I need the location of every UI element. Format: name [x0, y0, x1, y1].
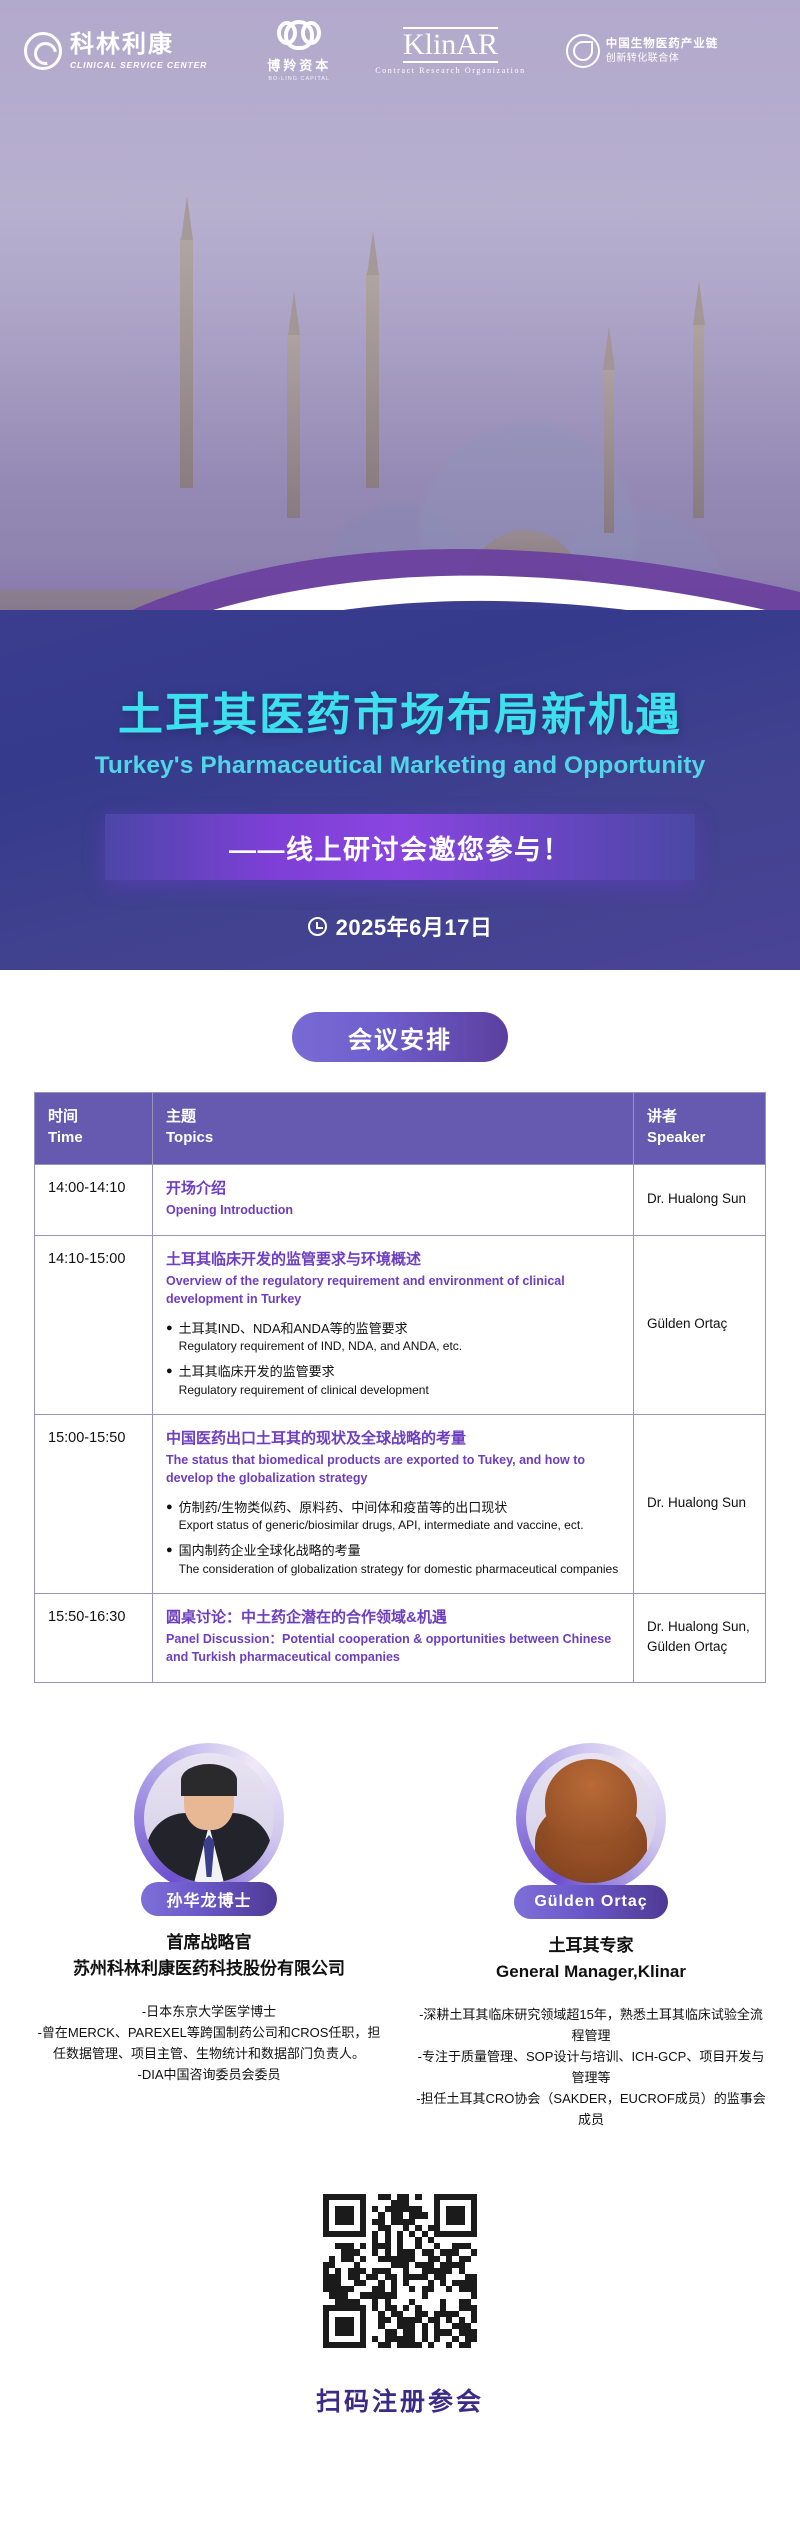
speakers-section: 孙华龙博士 首席战略官 苏州科林利康医药科技股份有限公司 -日本东京大学医学博士…	[0, 1683, 800, 2130]
swirl-icon	[24, 32, 62, 70]
table-row: 15:50-16:30圆桌讨论：中土药企潜在的合作领域&机遇Panel Disc…	[35, 1593, 766, 1682]
cell-speaker: Dr. Hualong Sun	[634, 1414, 766, 1593]
schedule-badge-text: 会议安排	[348, 1020, 452, 1055]
schedule-section: 会议安排 时间 Time 主题 Topics 讲者 Speaker 14:00-…	[0, 970, 800, 1683]
cell-speaker: Dr. Hualong Sun, Gülden Ortaç	[634, 1593, 766, 1682]
main-title-en: Turkey's Pharmaceutical Marketing and Op…	[0, 752, 800, 780]
col-header-cn: 讲者	[647, 1106, 752, 1127]
logo-klinar: KlinAR Contract Research Organization	[375, 27, 525, 75]
logo-cn-text: 科林利康	[70, 33, 207, 57]
bullet-cn: 土耳其IND、NDA和ANDA等的监管要求	[179, 1319, 620, 1339]
bullet-dot-icon: ●	[166, 1362, 173, 1399]
logo-en-text: CLINICAL SERVICE CENTER	[70, 60, 207, 70]
bullet-list: ●仿制药/生物类似药、原料药、中间体和疫苗等的出口现状Export status…	[166, 1498, 620, 1578]
topic-cn: 开场介绍	[166, 1178, 620, 1201]
medal-icon	[566, 34, 600, 68]
cell-topic: 圆桌讨论：中土药企潜在的合作领域&机遇Panel Discussion：Pote…	[153, 1593, 634, 1682]
speaker-bio: -深耕土耳其临床研究领域超15年，熟悉土耳其临床试验全流程管理 -专注于质量管理…	[400, 2004, 782, 2130]
cell-time: 15:00-15:50	[35, 1414, 153, 1593]
schedule-table-body: 14:00-14:10开场介绍Opening IntroductionDr. H…	[35, 1164, 766, 1682]
cell-time: 15:50-16:30	[35, 1593, 153, 1682]
avatar	[516, 1743, 666, 1893]
bullet-item: ●仿制药/生物类似药、原料药、中间体和疫苗等的出口现状Export status…	[166, 1498, 620, 1535]
table-row: 15:00-15:50中国医药出口土耳其的现状及全球战略的考量The statu…	[35, 1414, 766, 1593]
avatar-photo	[526, 1753, 656, 1883]
hair-decor	[181, 1764, 237, 1796]
topic-cn: 圆桌讨论：中土药企潜在的合作领域&机遇	[166, 1607, 620, 1630]
bullet-en: The consideration of globalization strat…	[179, 1561, 620, 1578]
qr-code-icon[interactable]	[315, 2186, 485, 2356]
bullet-item: ●国内制药企业全球化战略的考量The consideration of glob…	[166, 1541, 620, 1578]
bullet-list: ●土耳其IND、NDA和ANDA等的监管要求Regulatory require…	[166, 1319, 620, 1399]
title-section: 土耳其医药市场布局新机遇 Turkey's Pharmaceutical Mar…	[0, 610, 800, 970]
speaker-role: 首席战略官	[18, 1930, 400, 1956]
logo-cn-text: KlinAR	[403, 27, 498, 63]
topic-cn: 中国医药出口土耳其的现状及全球战略的考量	[166, 1428, 620, 1451]
bullet-body: 土耳其临床开发的监管要求Regulatory requirement of cl…	[179, 1362, 620, 1399]
bullet-cn: 土耳其临床开发的监管要求	[179, 1362, 620, 1382]
logo-cn-text: 博羚资本	[267, 55, 331, 74]
logo-cn-text: 中国生物医药产业链	[606, 37, 719, 52]
cell-time: 14:10-15:00	[35, 1235, 153, 1414]
cell-speaker: Gülden Ortaç	[634, 1235, 766, 1414]
hair-decor	[545, 1759, 637, 1845]
table-row: 14:00-14:10开场介绍Opening IntroductionDr. H…	[35, 1164, 766, 1235]
speaker-name: Gülden Ortaç	[534, 1893, 647, 1911]
speaker-name: 孙华龙博士	[166, 1887, 251, 1911]
topic-en: The status that biomedical products are …	[166, 1452, 620, 1488]
logo-en-text: 创新转化联合体	[606, 52, 719, 65]
clock-icon	[308, 917, 327, 936]
cell-topic: 土耳其临床开发的监管要求与环境概述Overview of the regulat…	[153, 1235, 634, 1414]
logo-china-biopharma-alliance: 中国生物医药产业链 创新转化联合体	[566, 34, 719, 68]
col-header-en: Speaker	[647, 1127, 752, 1148]
ram-head-icon	[284, 20, 314, 50]
bullet-cn: 国内制药企业全球化战略的考量	[179, 1541, 620, 1561]
bullet-en: Regulatory requirement of IND, NDA, and …	[179, 1338, 620, 1355]
qr-caption: 扫码注册参会	[0, 2382, 800, 2418]
topic-en: Panel Discussion：Potential cooperation &…	[166, 1631, 620, 1667]
avatar-photo	[144, 1753, 274, 1883]
table-row: 14:10-15:00土耳其临床开发的监管要求与环境概述Overview of …	[35, 1235, 766, 1414]
bullet-body: 仿制药/生物类似药、原料药、中间体和疫苗等的出口现状Export status …	[179, 1498, 620, 1535]
cell-speaker: Dr. Hualong Sun	[634, 1164, 766, 1235]
bullet-cn: 仿制药/生物类似药、原料药、中间体和疫苗等的出口现状	[179, 1498, 620, 1518]
col-header-time: 时间 Time	[35, 1093, 153, 1165]
col-header-topics: 主题 Topics	[153, 1093, 634, 1165]
speaker-org: General Manager,Klinar	[400, 1959, 782, 1985]
topic-cn: 土耳其临床开发的监管要求与环境概述	[166, 1249, 620, 1272]
speaker-name-pill: Gülden Ortaç	[514, 1885, 667, 1919]
bullet-en: Export status of generic/biosimilar drug…	[179, 1517, 620, 1534]
speaker-role: 土耳其专家	[400, 1933, 782, 1959]
col-header-en: Topics	[166, 1127, 620, 1148]
speaker-org: 苏州科林利康医药科技股份有限公司	[18, 1956, 400, 1982]
ribbon-banner: ——线上研讨会邀您参与！	[105, 814, 695, 880]
topic-en: Opening Introduction	[166, 1202, 620, 1220]
logo-en-text: Contract Research Organization	[375, 66, 525, 75]
avatar	[134, 1743, 284, 1893]
logo-bar: 科林利康 CLINICAL SERVICE CENTER 博羚资本 BO-LIN…	[0, 22, 800, 80]
event-date: 2025年6月17日	[0, 910, 800, 942]
schedule-table: 时间 Time 主题 Topics 讲者 Speaker 14:00-14:10…	[34, 1092, 766, 1683]
speaker-card-1: 孙华龙博士 首席战略官 苏州科林利康医药科技股份有限公司 -日本东京大学医学博士…	[18, 1743, 400, 2130]
bullet-en: Regulatory requirement of clinical devel…	[179, 1382, 620, 1399]
bullet-dot-icon: ●	[166, 1319, 173, 1356]
bullet-dot-icon: ●	[166, 1498, 173, 1535]
col-header-speaker: 讲者 Speaker	[634, 1093, 766, 1165]
cell-time: 14:00-14:10	[35, 1164, 153, 1235]
cell-topic: 中国医药出口土耳其的现状及全球战略的考量The status that biom…	[153, 1414, 634, 1593]
logo-bo-ling-capital: 博羚资本 BO-LING CAPITAL	[267, 20, 331, 82]
bullet-body: 土耳其IND、NDA和ANDA等的监管要求Regulatory requirem…	[179, 1319, 620, 1356]
main-title-cn: 土耳其医药市场布局新机遇	[0, 678, 800, 743]
col-header-cn: 时间	[48, 1106, 139, 1127]
speaker-bio: -日本东京大学医学博士 -曾在MERCK、PAREXEL等跨国制药公司和CROS…	[18, 2001, 400, 2085]
ribbon-text: ——线上研讨会邀您参与！	[229, 828, 571, 867]
bullet-body: 国内制药企业全球化战略的考量The consideration of globa…	[179, 1541, 620, 1578]
registration-section: 扫码注册参会	[0, 2130, 800, 2458]
table-header-row: 时间 Time 主题 Topics 讲者 Speaker	[35, 1093, 766, 1165]
cell-topic: 开场介绍Opening Introduction	[153, 1164, 634, 1235]
col-header-cn: 主题	[166, 1106, 620, 1127]
event-date-text: 2025年6月17日	[336, 910, 493, 942]
speaker-name-pill: 孙华龙博士	[141, 1882, 277, 1916]
logo-clinical-service-center: 科林利康 CLINICAL SERVICE CENTER	[24, 32, 207, 70]
logo-en-text: BO-LING CAPITAL	[268, 76, 330, 82]
speaker-card-2: Gülden Ortaç 土耳其专家 General Manager,Klina…	[400, 1743, 782, 2130]
bullet-item: ●土耳其临床开发的监管要求Regulatory requirement of c…	[166, 1362, 620, 1399]
bullet-dot-icon: ●	[166, 1541, 173, 1578]
col-header-en: Time	[48, 1127, 139, 1148]
bullet-item: ●土耳其IND、NDA和ANDA等的监管要求Regulatory require…	[166, 1319, 620, 1356]
topic-en: Overview of the regulatory requirement a…	[166, 1273, 620, 1309]
schedule-badge: 会议安排	[292, 1012, 508, 1062]
